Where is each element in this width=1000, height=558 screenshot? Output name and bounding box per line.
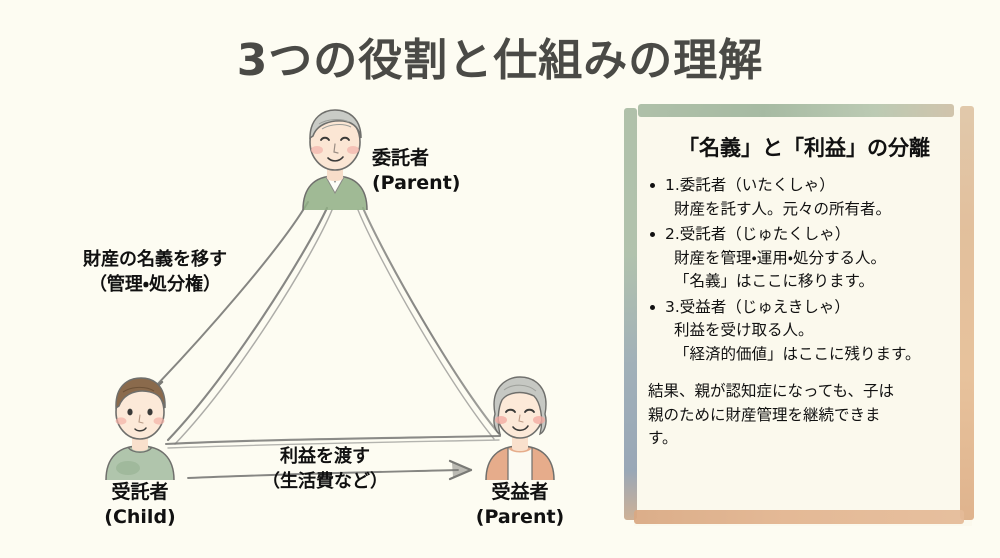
node-label-settlor: 委託者 (Parent) [372, 146, 522, 196]
beneficiary-english: (Parent) [440, 505, 600, 530]
trustee-english: (Child) [60, 505, 220, 530]
panel-content: 「名義」と「利益」の分離 1.委託者（いたくしゃ） 財産を託す人。元々の所有者。… [648, 124, 960, 516]
panel-list: 1.委託者（いたくしゃ） 財産を託す人。元々の所有者。 2.受託者（じゅたくしゃ… [648, 174, 960, 366]
info-panel: 「名義」と「利益」の分離 1.委託者（いたくしゃ） 財産を託す人。元々の所有者。… [620, 98, 986, 538]
conclusion-line: 結果、親が認知症になっても、子は [648, 380, 960, 404]
conclusion-line: す。 [648, 427, 960, 451]
bullet-icon [650, 232, 655, 237]
node-label-beneficiary: 受益者 (Parent) [440, 480, 600, 530]
list-item: 1.委託者（いたくしゃ） 財産を託す人。元々の所有者。 [648, 174, 960, 221]
trustee-role: 受託者 [60, 480, 220, 505]
item-line: 財産を託す人。元々の所有者。 [665, 198, 960, 222]
list-item: 2.受託者（じゅたくしゃ） 財産を管理・運用・処分する人。 「名義」はここに移り… [648, 223, 960, 294]
item-line: 「経済的価値」はここに残ります。 [665, 343, 960, 367]
benefit-line-2: （生活費など） [230, 470, 420, 495]
settlor-english: (Parent) [372, 171, 522, 196]
item-line: 財産を管理・運用・処分する人。 [665, 247, 960, 271]
node-label-trustee: 受託者 (Child) [60, 480, 220, 530]
avatar-beneficiary [468, 368, 572, 480]
transfer-line-2: （管理・処分権） [50, 273, 260, 298]
panel-border-left [624, 108, 637, 520]
list-item: 3.受益者（じゅえきしゃ） 利益を受け取る人。 「経済的価値」はここに残ります。 [648, 296, 960, 367]
beneficiary-role: 受益者 [440, 480, 600, 505]
item-title: 3.受益者（じゅえきしゃ） [665, 296, 960, 320]
edge-label-transfer: 財産の名義を移す （管理・処分権） [50, 248, 260, 298]
item-line: 「名義」はここに移ります。 [665, 270, 960, 294]
page-title: 3つの役割と仕組みの理解 [0, 24, 1000, 88]
item-line: 利益を受け取る人。 [665, 319, 960, 343]
panel-border-top [638, 104, 954, 117]
item-title: 1.委託者（いたくしゃ） [665, 174, 960, 198]
edge-label-benefit: 利益を渡す （生活費など） [230, 445, 420, 495]
panel-heading: 「名義」と「利益」の分離 [648, 132, 960, 162]
benefit-line-1: 利益を渡す [230, 445, 420, 470]
panel-conclusion: 結果、親が認知症になっても、子は 親のために財産管理を継続できま す。 [648, 380, 960, 451]
settlor-role: 委託者 [372, 146, 522, 171]
conclusion-line: 親のために財産管理を継続できま [648, 404, 960, 428]
bullet-icon [650, 305, 655, 310]
bullet-icon [650, 183, 655, 188]
panel-border-right [960, 106, 974, 520]
item-title: 2.受託者（じゅたくしゃ） [665, 223, 960, 247]
edge-left-side [168, 208, 332, 444]
avatar-trustee [88, 368, 192, 480]
transfer-line-1: 財産の名義を移す [50, 248, 260, 273]
trust-relationship-diagram: 委託者 (Parent) 受託者 (Child) 受益者 (Parent) 財産… [40, 90, 620, 550]
